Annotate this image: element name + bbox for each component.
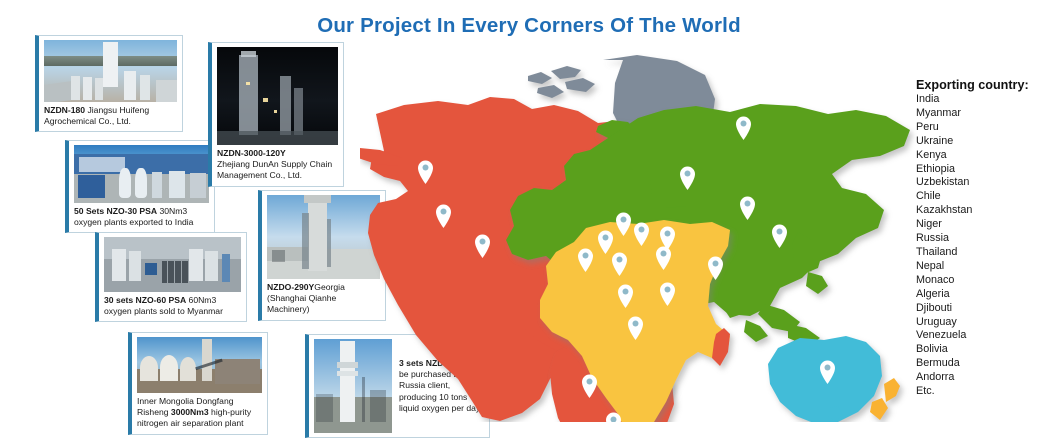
country-item: Bolivia (916, 343, 1056, 357)
country-item: Peru (916, 121, 1056, 135)
project-card-nzdn-3000-120y[interactable]: NZDN-3000-120YZhejiang DunAn Supply Chai… (208, 42, 344, 187)
country-item: Venezuela (916, 329, 1056, 343)
country-item: Chile (916, 190, 1056, 204)
project-card-nzo-60[interactable]: 30 sets NZO-60 PSA 60Nm3 oxygen plants s… (95, 232, 247, 322)
country-item: Uzbekistan (916, 176, 1056, 190)
country-item: Uruguay (916, 316, 1056, 330)
caption-nzo-60: 30 sets NZO-60 PSA 60Nm3 oxygen plants s… (104, 292, 241, 317)
country-item: Nepal (916, 260, 1056, 274)
country-item: Andorra (916, 371, 1056, 385)
photo-psa-oxygen-plant-team (104, 237, 241, 292)
caption-inner-mongolia: Inner Mongolia Dongfang Risheng 3000Nm3 … (137, 393, 262, 430)
caption-model: 3000Nm3 (171, 407, 209, 417)
project-card-inner-mongolia[interactable]: Inner Mongolia Dongfang Risheng 3000Nm3 … (128, 332, 268, 435)
caption-model: NZDN-180 (44, 105, 85, 115)
photo-industrial-plant-mountain (44, 40, 177, 102)
project-card-nzo-30[interactable]: 50 Sets NZO-30 PSA 30Nm3 oxygen plants e… (65, 140, 215, 233)
photo-night-distillation-tower (217, 47, 338, 145)
infographic-root: Our Project In Every Corners Of The Worl… (0, 0, 1058, 441)
exporting-country-list: India Myanmar Peru Ukraine Kenya Ethiopi… (916, 93, 1056, 399)
caption-text: Zhejiang DunAn Supply Chain Management C… (217, 159, 332, 180)
country-item: Thailand (916, 246, 1056, 260)
country-item: Djibouti (916, 302, 1056, 316)
country-item: Algeria (916, 288, 1056, 302)
photo-nitrogen-air-separation-plant (137, 337, 262, 393)
exporting-country-title: Exporting country: (916, 78, 1056, 92)
country-item: Kazakhstan (916, 204, 1056, 218)
caption-nzdn-180: NZDN-180 Jiangsu Huifeng Agrochemical Co… (44, 102, 177, 127)
exporting-country-panel: Exporting country: India Myanmar Peru Uk… (916, 78, 1056, 399)
caption-model: NZDO-290Y (267, 282, 314, 292)
project-card-nzdn-180[interactable]: NZDN-180 Jiangsu Huifeng Agrochemical Co… (35, 35, 183, 132)
country-item: Kenya (916, 149, 1056, 163)
country-item: Etc. (916, 385, 1056, 399)
country-item: Niger (916, 218, 1056, 232)
country-item: Ethiopia (916, 163, 1056, 177)
world-map (360, 52, 920, 422)
country-item: Myanmar (916, 107, 1056, 121)
caption-model: 30 sets NZO-60 PSA (104, 295, 186, 305)
caption-nzdn-3000-120y: NZDN-3000-120YZhejiang DunAn Supply Chai… (217, 145, 338, 182)
country-item: Monaco (916, 274, 1056, 288)
country-item: Ukraine (916, 135, 1056, 149)
caption-nzo-30: 50 Sets NZO-30 PSA 30Nm3 oxygen plants e… (74, 203, 209, 228)
photo-psa-oxygen-plant-outdoor (74, 145, 209, 203)
caption-model: 50 Sets NZO-30 PSA (74, 206, 157, 216)
country-item: Russia (916, 232, 1056, 246)
country-item: India (916, 93, 1056, 107)
caption-model: NZDN-3000-120Y (217, 148, 286, 158)
country-item: Bermuda (916, 357, 1056, 371)
